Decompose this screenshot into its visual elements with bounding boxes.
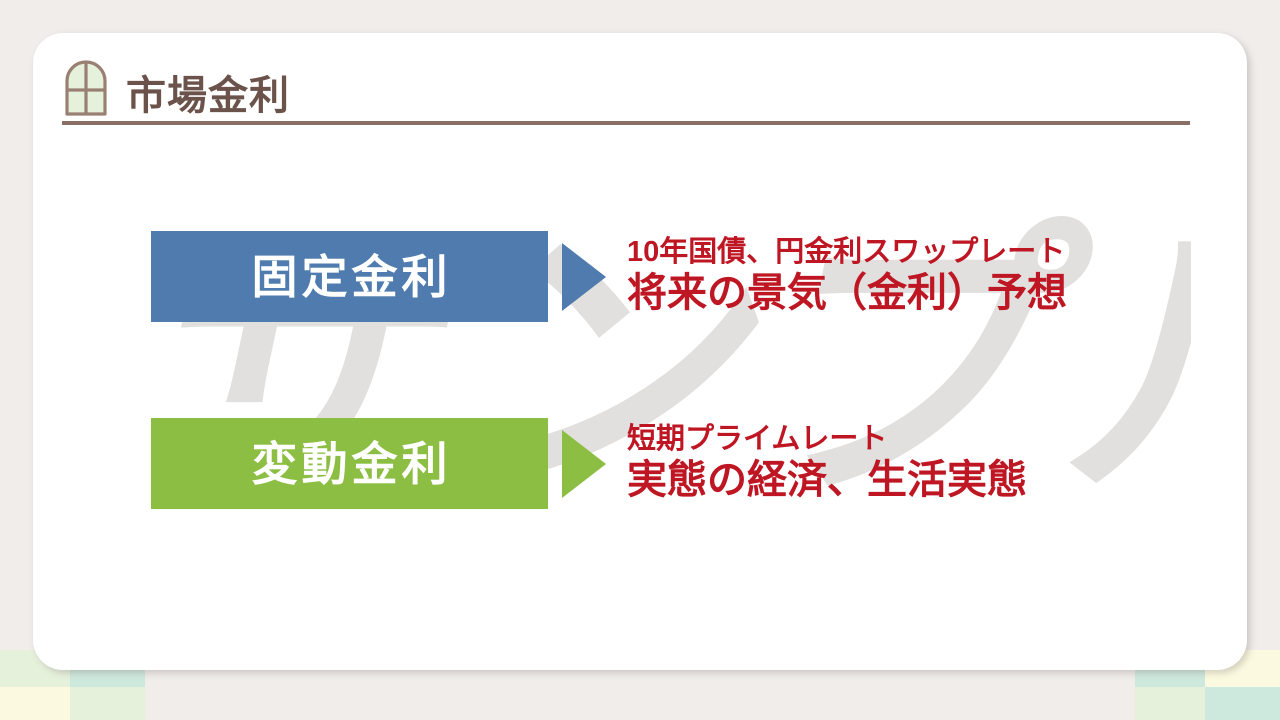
tag-floating-rate: 変動金利	[151, 418, 548, 509]
arrow-right-icon-floating	[556, 428, 608, 500]
desc-floating-rate: 短期プライムレート 実態の経済、生活実態	[627, 422, 1027, 506]
tag-fixed-rate-label: 固定金利	[248, 254, 452, 300]
slide-card: サンプル 市場金利 固定金利	[33, 33, 1247, 670]
decor-block	[0, 687, 70, 720]
row-floating-rate: 変動金利 短期プライムレート 実態の経済、生活実態	[33, 418, 1027, 509]
desc-fixed-rate: 10年国債、円金利スワップレート 将来の景気（金利）予想	[627, 235, 1067, 319]
row-fixed-rate: 固定金利 10年国債、円金利スワップレート 将来の景気（金利）予想	[33, 231, 1067, 322]
slide: サンプル 市場金利 固定金利	[0, 0, 1280, 720]
title-underline	[62, 121, 1190, 125]
desc-fixed-rate-small: 10年国債、円金利スワップレート	[627, 235, 1067, 269]
arrow-right-icon-fixed	[556, 241, 608, 313]
decor-block	[1135, 687, 1205, 720]
decor-block	[1205, 687, 1280, 720]
desc-floating-rate-large: 実態の経済、生活実態	[627, 456, 1027, 506]
arched-window-icon	[62, 54, 110, 116]
tag-floating-rate-label: 変動金利	[248, 441, 452, 487]
slide-header: 市場金利	[62, 54, 290, 120]
tag-fixed-rate: 固定金利	[151, 231, 548, 322]
desc-floating-rate-small: 短期プライムレート	[627, 422, 1027, 456]
desc-fixed-rate-large: 将来の景気（金利）予想	[627, 269, 1067, 319]
page-title: 市場金利	[126, 76, 290, 120]
decor-block	[70, 687, 145, 720]
